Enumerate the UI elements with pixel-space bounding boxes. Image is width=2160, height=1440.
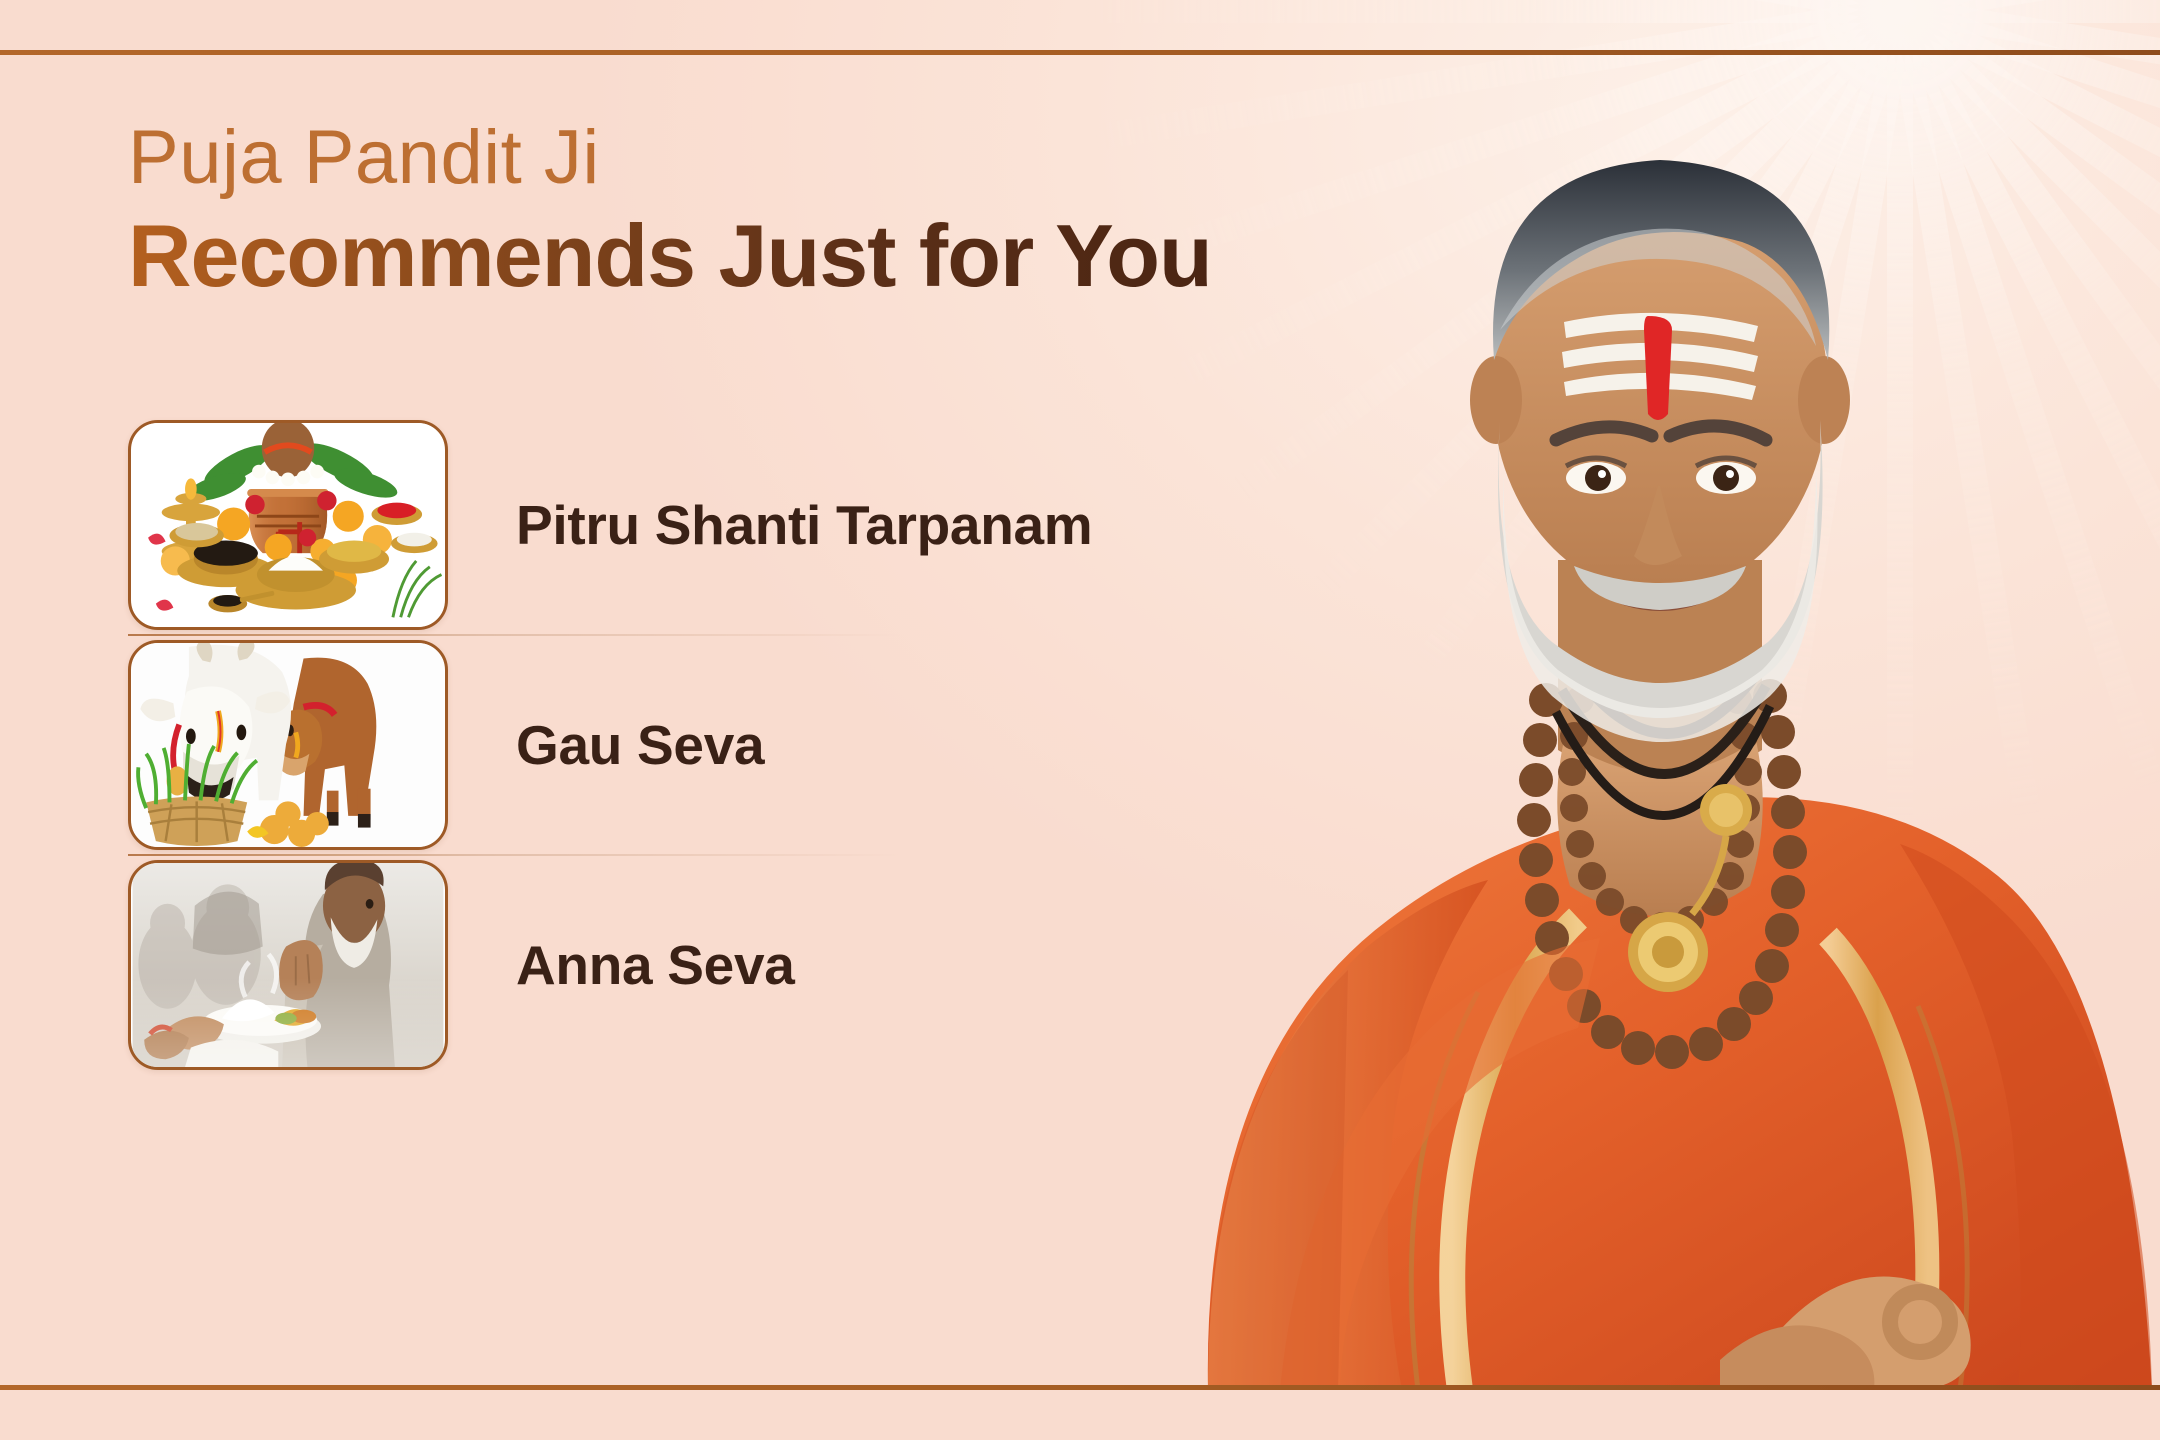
- sunburst-ray: [1759, 8, 1913, 822]
- sunburst-ray: [1229, 0, 1908, 503]
- list-item[interactable]: Anna Seva: [128, 856, 968, 1074]
- sunburst-ray: [1891, 0, 2160, 19]
- food-donation-icon: [128, 860, 448, 1070]
- sunburst-ray: [1080, 0, 1900, 23]
- sunburst-ray: [1887, 0, 1913, 10]
- sunburst-ray: [1407, 2, 1910, 681]
- recommendation-banner: Puja Pandit Ji Recommends Just for You: [0, 0, 2160, 1440]
- pandit-portrait-image: [1160, 0, 2160, 1390]
- sunburst-ray: [1759, 0, 1913, 12]
- sunburst-ray: [1887, 8, 2041, 822]
- sunburst-ray: [1898, 0, 2160, 23]
- sunburst-rays-decoration: [1150, 0, 2160, 760]
- sunburst-ray: [1888, 4, 2160, 746]
- banner-headline: Recommends Just for You: [128, 210, 1278, 302]
- top-rule-divider: [0, 50, 2160, 55]
- sunburst-ray: [1516, 4, 1911, 746]
- list-item-label: Pitru Shanti Tarpanam: [516, 493, 1092, 557]
- list-divider: [128, 854, 968, 856]
- sunburst-ray: [1892, 0, 2160, 21]
- sunburst-ray: [1634, 0, 1912, 14]
- sunburst-ray: [1516, 0, 1911, 16]
- sunburst-ray: [1888, 0, 2160, 16]
- list-item-label: Anna Seva: [516, 933, 795, 997]
- bottom-rule-divider: [0, 1385, 2160, 1390]
- sunburst-ray: [1887, 10, 1913, 830]
- sunburst-ray: [1898, 0, 2160, 151]
- sunburst-ray: [1163, 0, 1905, 22]
- sunburst-ray: [1900, 0, 2160, 23]
- sunburst-ray: [1891, 1, 2160, 599]
- sunburst-ray: [1894, 0, 2160, 22]
- sunburst-ray: [1889, 0, 2160, 18]
- sunburst-ray: [1311, 0, 1909, 19]
- list-item-label: Gau Seva: [516, 713, 764, 777]
- sunburst-ray: [1896, 0, 2160, 22]
- sunburst-ray: [1088, 0, 1902, 23]
- sunburst-ray: [1407, 0, 1910, 18]
- list-item[interactable]: Pitru Shanti Tarpanam: [128, 416, 968, 634]
- list-divider: [128, 634, 968, 636]
- banner-content: Puja Pandit Ji Recommends Just for You: [128, 120, 1278, 1360]
- sunburst-ray: [1889, 2, 2160, 681]
- sunburst-ray: [1229, 0, 1908, 21]
- recommendation-list: Pitru Shanti Tarpanam: [128, 416, 968, 1074]
- puja-thali-kalash-icon: [128, 420, 448, 630]
- sunburst-ray: [1634, 6, 1912, 794]
- sunburst-ray: [1887, 0, 2041, 12]
- sunburst-ray: [1894, 0, 2160, 394]
- sunburst-ray: [1116, 0, 1904, 22]
- sunburst-ray: [1888, 0, 2160, 14]
- cow-and-calf-icon: [128, 640, 448, 850]
- sunburst-ray: [1892, 0, 2160, 503]
- sunburst-ray: [1888, 6, 2160, 794]
- banner-eyebrow: Puja Pandit Ji: [128, 120, 1278, 196]
- list-item[interactable]: Gau Seva: [128, 636, 968, 854]
- sunburst-ray: [1311, 1, 1909, 599]
- sunburst-ray: [1896, 0, 2160, 276]
